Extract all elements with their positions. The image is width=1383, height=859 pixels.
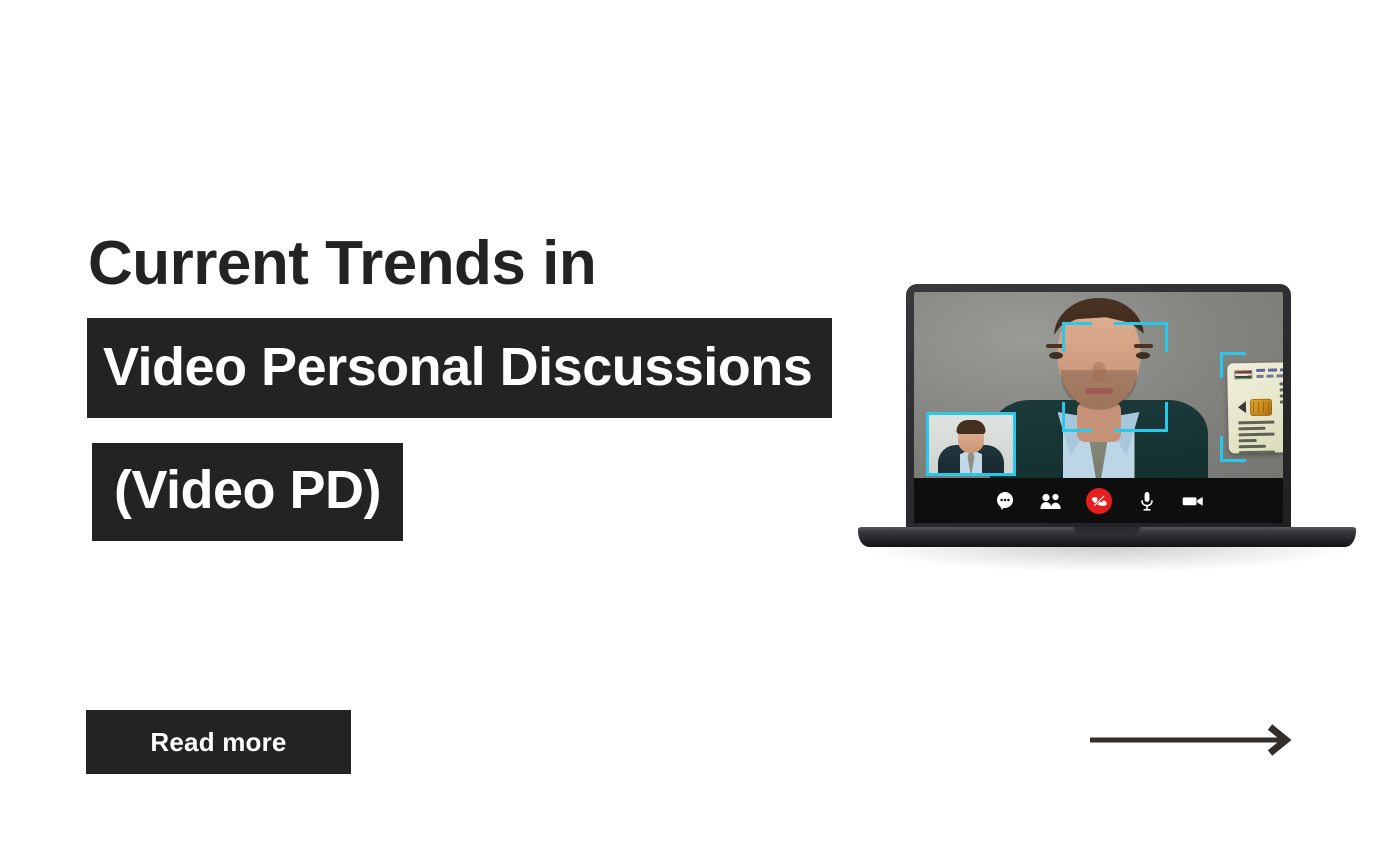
participant-nose <box>1092 362 1105 382</box>
laptop-screen <box>914 292 1283 523</box>
identity-card-fields-right <box>1279 381 1283 407</box>
main-participant-video <box>984 292 1214 478</box>
video-call-feed <box>914 292 1283 478</box>
headline-line-2-highlight: Video Personal Discussions <box>87 318 832 418</box>
participant-eye-right <box>1136 352 1150 359</box>
next-slide-arrow-button[interactable] <box>1088 722 1296 758</box>
smart-chip-icon <box>1250 399 1272 416</box>
participant-brow-right <box>1134 344 1153 348</box>
laptop-base <box>858 527 1356 547</box>
participants-icon[interactable] <box>1040 490 1062 512</box>
participant-brow-left <box>1046 344 1065 348</box>
laptop-mockup-illustration <box>858 284 1356 624</box>
identity-card-fields-left <box>1238 421 1277 454</box>
arrow-right-icon <box>1088 722 1296 758</box>
identity-card-header <box>1234 367 1283 383</box>
participant-mouth <box>1085 388 1113 394</box>
page-title: Current Trends in Video Personal Discuss… <box>86 233 876 541</box>
read-more-button[interactable]: Read more <box>86 710 351 774</box>
identity-card-arrow-icon <box>1238 401 1246 413</box>
self-view-thumbnail[interactable] <box>926 412 1016 476</box>
slide-canvas: Current Trends in Video Personal Discuss… <box>0 0 1383 859</box>
camera-icon[interactable] <box>1182 490 1204 512</box>
laptop-shadow <box>864 546 1350 572</box>
identity-card-title-line-2 <box>1256 373 1283 378</box>
headline-line-3-highlight: (Video PD) <box>92 443 403 541</box>
identity-card <box>1227 360 1283 453</box>
flag-icon <box>1234 370 1252 379</box>
headline-line-1: Current Trends in <box>86 233 876 295</box>
call-control-bar <box>914 478 1283 523</box>
chat-icon[interactable] <box>994 490 1016 512</box>
identity-card-overlay <box>1220 352 1283 462</box>
laptop-lid <box>906 284 1291 531</box>
microphone-icon[interactable] <box>1136 490 1158 512</box>
participant-eye-left <box>1049 352 1063 359</box>
identity-card-title-line-1 <box>1256 367 1283 372</box>
self-view-hair <box>957 420 986 434</box>
end-call-icon[interactable] <box>1086 488 1112 514</box>
